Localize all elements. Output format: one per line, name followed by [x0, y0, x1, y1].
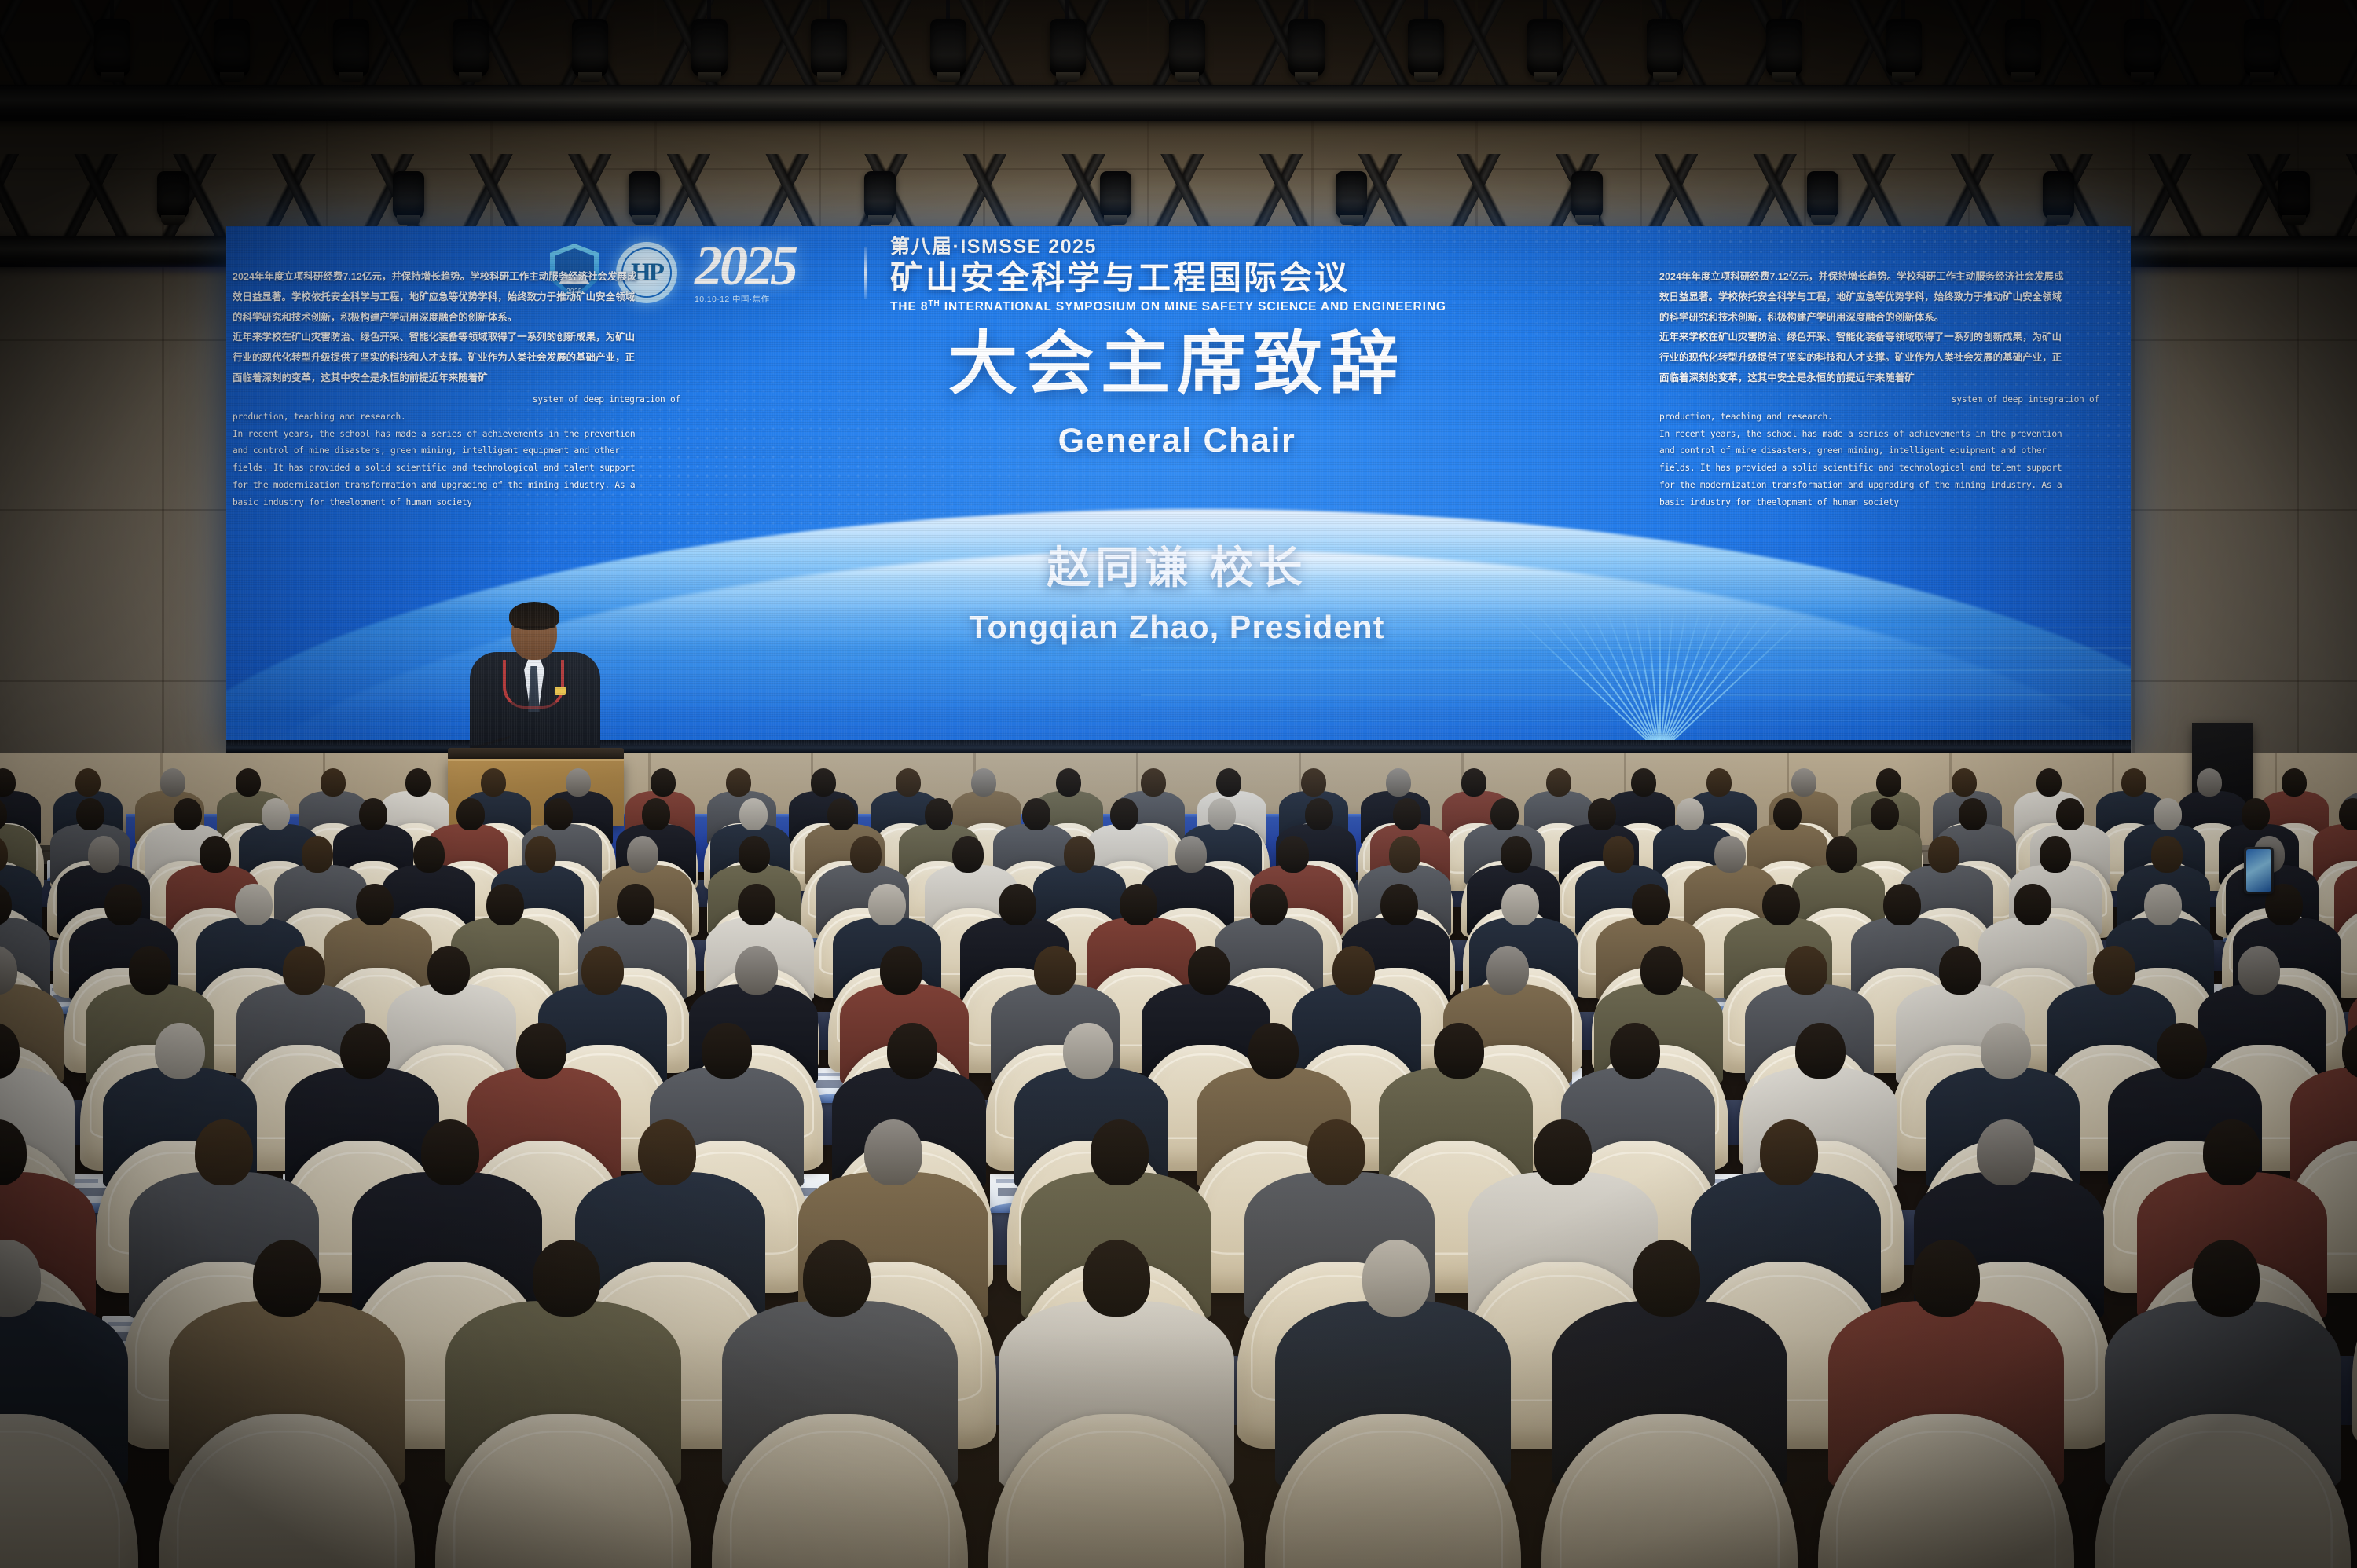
audience-member-head [1876, 768, 1901, 797]
audience-member-head [1064, 836, 1096, 872]
caption-cn-line: 面临着深刻的变革，这其中安全是永恒的前提近年来随着矿 [1659, 368, 2131, 388]
audience-member-head [1952, 768, 1977, 797]
banner-title-en-suffix: INTERNATIONAL SYMPOSIUM ON MINE SAFETY S… [940, 300, 1446, 313]
caption-panel-right: 2024年年度立项科研经费7.12亿元，并保持增长趋势。学校科研工作主动服务经济… [1659, 267, 2131, 511]
audience-member-head [340, 1023, 390, 1079]
caption-cn-line: 的科学研究和技术创新，积极构建产学研用深度融合的创新体系。 [233, 308, 712, 328]
audience-member-head [1714, 836, 1747, 872]
caption-cn-line: 近年来学校在矿山灾害防治、绿色开采、智能化装备等领域取得了一系列的创新成果，为矿… [233, 328, 712, 347]
audience-member-head [1501, 836, 1533, 872]
audience-member-head [1791, 768, 1816, 797]
audience-member-head [896, 768, 921, 797]
audience-member-head [726, 768, 751, 797]
audience-member-head [1208, 798, 1236, 830]
grid-horizon-line [1141, 720, 2131, 721]
audience-member-head [1773, 798, 1802, 830]
caption-cn-line: 2024年年度立项科研经费7.12亿元，并保持增长趋势。学校科研工作主动服务经济… [233, 267, 712, 287]
year-logotype-text: 2025 [695, 240, 841, 291]
audience-member-head [1676, 798, 1704, 830]
audience-member-head [999, 884, 1036, 925]
audience-member-head [566, 768, 591, 797]
caption-en-line: production, teaching and research. [1659, 408, 2131, 426]
audience-member-head [1393, 798, 1421, 830]
audience-member-head [1120, 884, 1157, 925]
caption-en-line: production, teaching and research. [233, 408, 712, 426]
speaker-glasses [514, 626, 555, 634]
audience-member-head [302, 836, 334, 872]
audience-member-head [405, 768, 431, 797]
audience-member-head [827, 798, 856, 830]
audience-member-head [1110, 798, 1138, 830]
audience-member-head [1826, 836, 1858, 872]
audience-member-head [1063, 1023, 1113, 1079]
audience-member-head [702, 1023, 751, 1079]
audience-member-head [642, 798, 670, 830]
audience-member-head [651, 768, 676, 797]
speaker-lapel-badge [555, 687, 566, 695]
audience-member-head [427, 946, 471, 995]
audience-member-head [262, 798, 290, 830]
grid-radial-line [1659, 603, 1661, 745]
grid-radial-line [1659, 603, 1879, 745]
audience-member-head [1631, 768, 1656, 797]
audience-member-head [925, 798, 953, 830]
caption-en-line: for the modernization transformation and… [1659, 477, 2131, 494]
banner-title-en-ordinal: TH [928, 299, 940, 308]
audience-member-head [1912, 1240, 1981, 1317]
audience-member-head [2144, 884, 2181, 925]
year-logotype: 2025 10.10-12 中国·焦作 [695, 237, 841, 308]
audience-member-head [2093, 946, 2136, 995]
audience-member-head [1977, 1119, 2035, 1185]
audience-member-head [76, 798, 104, 830]
audience-member-head [1141, 768, 1166, 797]
audience-member-head [104, 884, 141, 925]
audience-member-head [971, 768, 996, 797]
audience-member-head [2339, 798, 2357, 830]
audience-member-head [739, 836, 771, 872]
audience-member-head [1301, 768, 1326, 797]
audience-member-head [544, 798, 573, 830]
audience-member-head [1883, 884, 1920, 925]
audience-member-head [75, 768, 101, 797]
banner-text-block: 第八届·ISMSSE 2025 矿山安全科学与工程国际会议 THE 8TH IN… [890, 231, 1446, 314]
caption-cn-line: 的科学研究和技术创新，积极构建产学研用深度融合的创新体系。 [1659, 308, 2131, 328]
speaker-name-english: Tongqian Zhao, President [823, 609, 1530, 646]
audience-member-head [880, 946, 923, 995]
audience-member-head [1386, 768, 1411, 797]
audience-member-head [88, 836, 120, 872]
audience-member-head [1434, 1023, 1483, 1079]
audience-member-head [1277, 836, 1310, 872]
audience-member-head [1959, 798, 1987, 830]
audience-member-head [2036, 768, 2062, 797]
audience-member-head [1083, 1240, 1151, 1317]
audience-member-head [356, 884, 393, 925]
caption-en-line: basic industry for theelopment of human … [233, 494, 712, 511]
audience-member-head [129, 946, 172, 995]
audience-member-head [481, 768, 506, 797]
audience-member-head [195, 1119, 253, 1185]
caption-cn-line: 面临着深刻的变革，这其中安全是永恒的前提近年来随着矿 [233, 368, 712, 388]
audience-member-head [2157, 1023, 2206, 1079]
caption-cn-line: 效日益显著。学校依托安全科学与工程，地矿应急等优势学科，始终致力于推动矿山安全领… [1659, 288, 2131, 307]
audience-member-head [1640, 946, 1684, 995]
audience-member-head [174, 798, 202, 830]
caption-english-left: system of deep integration ofproduction,… [233, 391, 712, 511]
caption-cn-line: 近年来学校在矿山灾害防治、绿色开采、智能化装备等领域取得了一系列的创新成果，为矿… [1659, 328, 2131, 347]
caption-en-line: fields. It has provided a solid scientif… [233, 460, 712, 477]
audience-member-head [627, 836, 659, 872]
audience-member-head [1795, 1023, 1845, 1079]
audience-member-head [617, 884, 654, 925]
audience-member-head [738, 884, 775, 925]
audience-member-head [2151, 836, 2183, 872]
audience-member-head [2014, 884, 2051, 925]
audience-member-head [283, 946, 326, 995]
caption-cn-line: 行业的现代化转型升级提供了坚实的科技和人才支撑。矿业作为人类社会发展的基础产业，… [233, 348, 712, 368]
audience-member-head [1633, 1240, 1701, 1317]
audience-member-head [1250, 884, 1287, 925]
audience-member-head [525, 836, 557, 872]
audience-member-head [1188, 946, 1231, 995]
audience-member-head [1534, 1119, 1592, 1185]
caption-en-indent-line: system of deep integration of [233, 391, 712, 408]
audience-member-head [486, 884, 523, 925]
audience-member-head [359, 798, 387, 830]
audience-member-head [1546, 768, 1571, 797]
audience-member-head [236, 768, 261, 797]
audience-member-head [2056, 798, 2084, 830]
audience-member-head [1362, 1240, 1431, 1317]
audience-member-head [952, 836, 984, 872]
audience-member-head [739, 798, 768, 830]
audience-member-head [1305, 798, 1333, 830]
audience-member-head [850, 836, 882, 872]
audience-member-head [1022, 798, 1050, 830]
audience-member-head [2197, 768, 2222, 797]
audience-member-head [1939, 946, 1982, 995]
audience-member-head [2203, 1119, 2261, 1185]
audience-member-head [868, 884, 905, 925]
caption-en-line: In recent years, the school has made a s… [233, 426, 712, 443]
conference-hall-photo: 2025 HP 2025 10.10-12 中国·焦作 第八届·ISMSSE 2… [0, 0, 2357, 1568]
audience-member-head [2040, 836, 2072, 872]
audience-member-head [1632, 884, 1669, 925]
speaker-lanyard [503, 660, 564, 709]
audience-member-head [735, 946, 779, 995]
grid-horizon-line [1141, 669, 2131, 671]
grid-horizon-line [1141, 647, 2131, 649]
podium-microphone-icon [471, 732, 517, 749]
audience-member-head [160, 768, 185, 797]
audience-member-head [1461, 768, 1486, 797]
audience-member-head [1762, 884, 1799, 925]
caption-en-line: for the modernization transformation and… [233, 477, 712, 494]
caption-chinese-left: 2024年年度立项科研经费7.12亿元，并保持增长趋势。学校科研工作主动服务经济… [233, 267, 712, 388]
audience-member-head [581, 946, 625, 995]
audience-member-head [421, 1119, 479, 1185]
audience-member-head [1034, 946, 1077, 995]
audience-member-head [2282, 768, 2307, 797]
banner-title-cn: 矿山安全科学与工程国际会议 [890, 261, 1446, 295]
audience-member-head [1380, 884, 1417, 925]
audience-member-head [1603, 836, 1635, 872]
caption-panel-left: 2024年年度立项科研经费7.12亿元，并保持增长趋势。学校科研工作主动服务经济… [233, 267, 712, 511]
caption-en-indent-line: system of deep integration of [1659, 391, 2131, 408]
grid-horizon-line [1141, 694, 2131, 696]
audience-member-head [2121, 768, 2146, 797]
audience-member-head [516, 1023, 566, 1079]
audience-member-head [200, 836, 232, 872]
caption-en-line: and control of mine disasters, green min… [233, 442, 712, 460]
audience-member-head [1760, 1119, 1818, 1185]
audience-member-head [1486, 946, 1530, 995]
audience-member-head [1056, 768, 1081, 797]
audience-member-head [2242, 798, 2270, 830]
speaker-name-chinese: 赵同谦 校长 [823, 533, 1530, 596]
audience-member-head [1981, 1023, 2030, 1079]
audience-member-head [1175, 836, 1208, 872]
slide-title-chinese: 大会主席致辞 [823, 325, 1530, 403]
banner-divider [864, 247, 867, 299]
year-logotype-subtext: 10.10-12 中国·焦作 [695, 293, 841, 305]
caption-en-line: basic industry for theelopment of human … [1659, 494, 2131, 511]
caption-cn-line: 行业的现代化转型升级提供了坚实的科技和人才支撑。矿业作为人类社会发展的基础产业，… [1659, 348, 2131, 368]
caption-en-line: fields. It has provided a solid scientif… [1659, 460, 2131, 477]
audience-member-head [2192, 1240, 2260, 1317]
audience-member-head [1706, 768, 1732, 797]
slide-center-block: 大会主席致辞 General Chair 赵同谦 校长 Tongqian Zha… [823, 325, 1530, 646]
banner-title-en: THE 8TH INTERNATIONAL SYMPOSIUM ON MINE … [890, 299, 1446, 314]
caption-english-right: system of deep integration ofproduction,… [1659, 391, 2131, 511]
audience-member-head [1307, 1119, 1365, 1185]
caption-en-line: and control of mine disasters, green min… [1659, 442, 2131, 460]
audience-member-head [235, 884, 272, 925]
audience-member-head [1785, 946, 1828, 995]
audience-member-head [253, 1240, 321, 1317]
audience-member-head [1389, 836, 1421, 872]
audience-member-head [321, 768, 346, 797]
audience-member-head [1871, 798, 1899, 830]
audience-member-head [1490, 798, 1519, 830]
slide-title-english: General Chair [823, 422, 1530, 460]
audience-member-head [1610, 1023, 1659, 1079]
audience-member-head [413, 836, 445, 872]
audience-member-head [1928, 836, 1960, 872]
audience-member-head [887, 1023, 937, 1079]
banner-edition-line: 第八届·ISMSSE 2025 [890, 231, 1446, 259]
audience-member-head [456, 798, 485, 830]
audience-member-head [1501, 884, 1538, 925]
audience-phone-camera [2244, 847, 2274, 894]
caption-en-line: In recent years, the school has made a s… [1659, 426, 2131, 443]
audience-member-head [811, 768, 836, 797]
audience-member-head [155, 1023, 204, 1079]
caption-chinese-right: 2024年年度立项科研经费7.12亿元，并保持增长趋势。学校科研工作主动服务经济… [1659, 267, 2131, 388]
audience-member-head [2238, 946, 2281, 995]
audience-member-head [1216, 768, 1241, 797]
audience-member-head [1248, 1023, 1298, 1079]
audience-member-head [1588, 798, 1616, 830]
caption-cn-line: 效日益显著。学校依托安全科学与工程，地矿应急等优势学科，始终致力于推动矿山安全领… [233, 288, 712, 307]
audience-member-head [1091, 1119, 1149, 1185]
caption-cn-line: 2024年年度立项科研经费7.12亿元，并保持增长趋势。学校科研工作主动服务经济… [1659, 267, 2131, 287]
audience-member-head [1332, 946, 1376, 995]
banner-title-en-prefix: THE 8 [890, 300, 928, 313]
audience-member-head [533, 1240, 601, 1317]
audience-member-head [864, 1119, 922, 1185]
audience-member-head [2154, 798, 2182, 830]
audience-member-head [803, 1240, 871, 1317]
audience-member-head [638, 1119, 696, 1185]
